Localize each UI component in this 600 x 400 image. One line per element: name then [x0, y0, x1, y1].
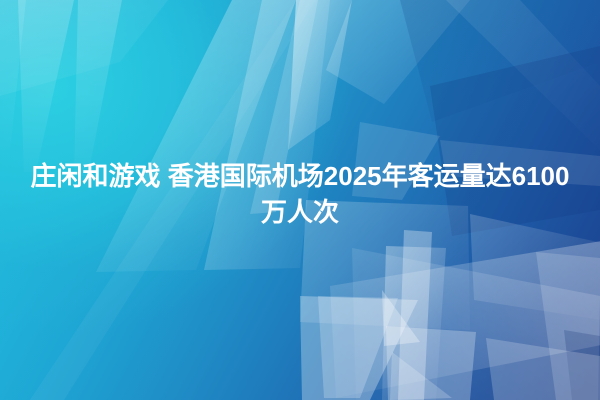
- promo-banner: 庄闲和游戏 香港国际机场2025年客运量达6100万人次: [0, 0, 600, 400]
- page-title: 庄闲和游戏 香港国际机场2025年客运量达6100万人次: [0, 158, 600, 230]
